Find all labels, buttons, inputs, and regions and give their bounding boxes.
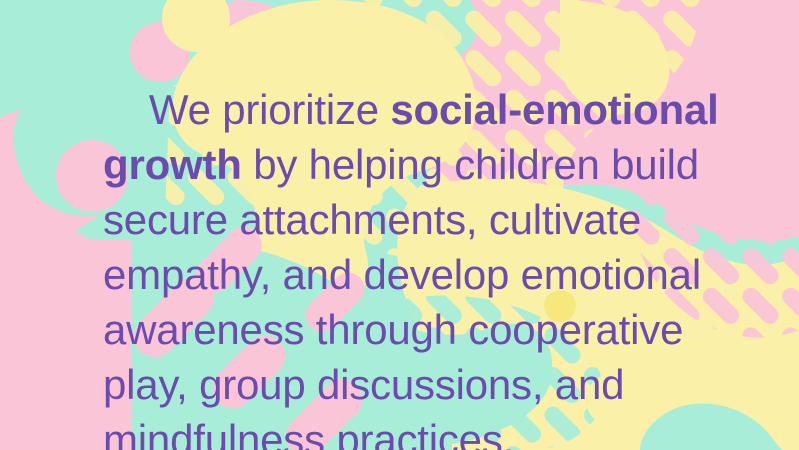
slide-canvas: We prioritize social-emotional growth by…	[0, 0, 799, 450]
quote-paragraph: We prioritize social-emotional growth by…	[103, 27, 743, 450]
quote-segment-lead: We prioritize	[149, 86, 391, 133]
